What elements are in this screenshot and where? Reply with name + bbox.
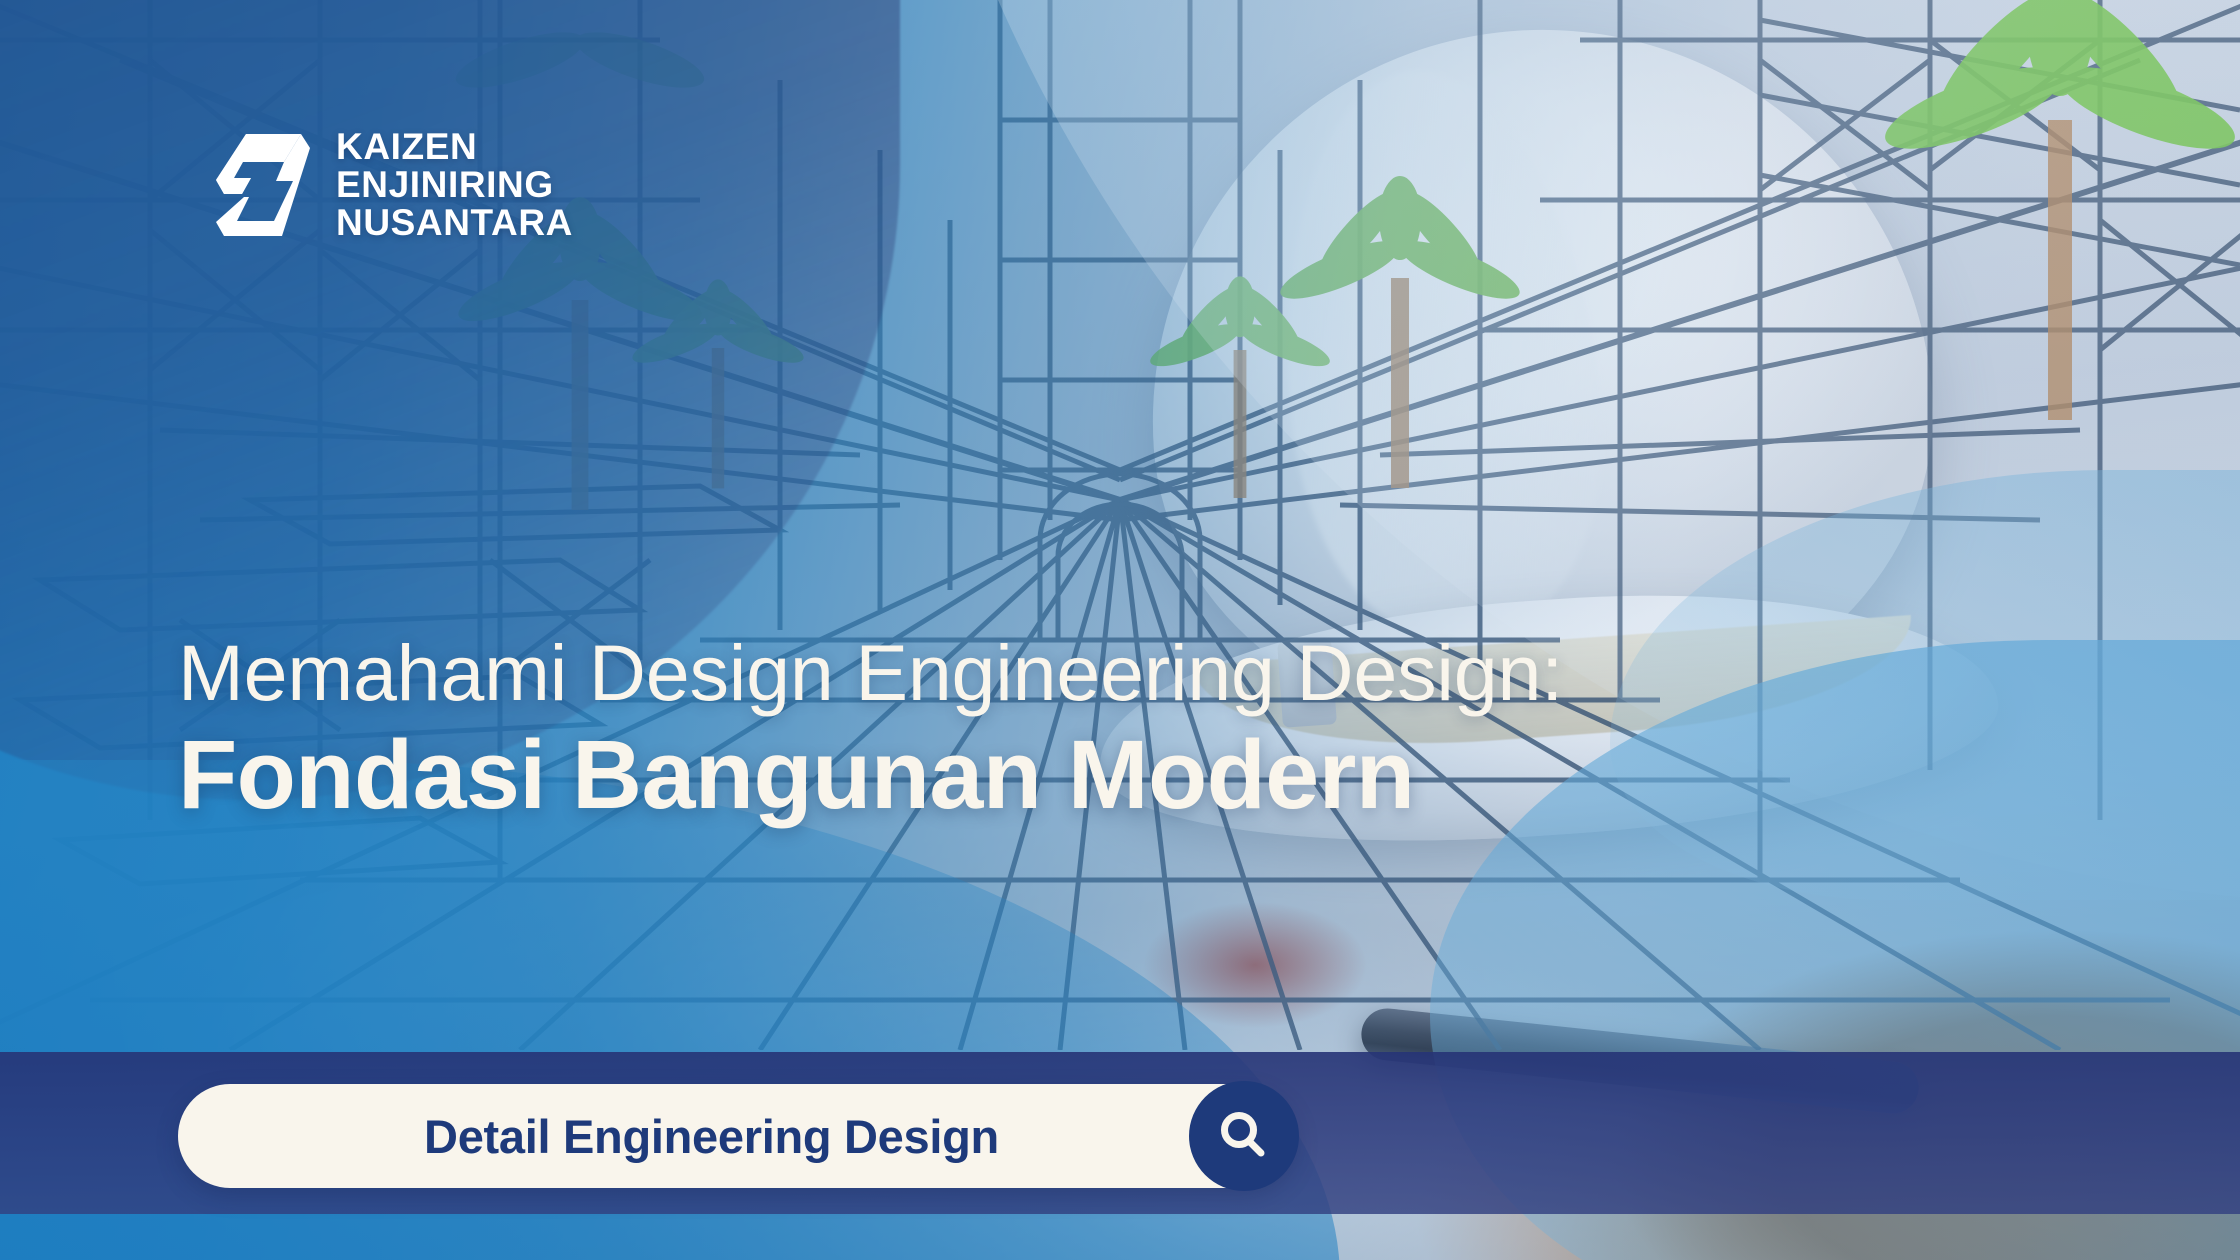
headline-title: Fondasi Bangunan Modern <box>178 721 2078 830</box>
brand-name-line-3: NUSANTARA <box>336 204 573 242</box>
hero-banner: KAIZEN ENJINIRING NUSANTARA Memahami Des… <box>0 0 2240 1260</box>
brand-name-line-1: KAIZEN <box>336 128 573 166</box>
brand-logo[interactable]: KAIZEN ENJINIRING NUSANTARA <box>216 128 573 242</box>
headline-block: Memahami Design Engineering Design: Fond… <box>178 630 2078 830</box>
search-button[interactable] <box>1189 1081 1299 1191</box>
search-pill-label: Detail Engineering Design <box>178 1109 1189 1164</box>
headline-subtitle: Memahami Design Engineering Design: <box>178 630 2078 715</box>
search-pill[interactable]: Detail Engineering Design <box>178 1084 1296 1188</box>
brand-name-line-2: ENJINIRING <box>336 166 573 204</box>
kaizen-hexagon-mark-icon <box>216 131 310 239</box>
search-icon <box>1213 1105 1275 1167</box>
brand-name: KAIZEN ENJINIRING NUSANTARA <box>336 128 573 242</box>
